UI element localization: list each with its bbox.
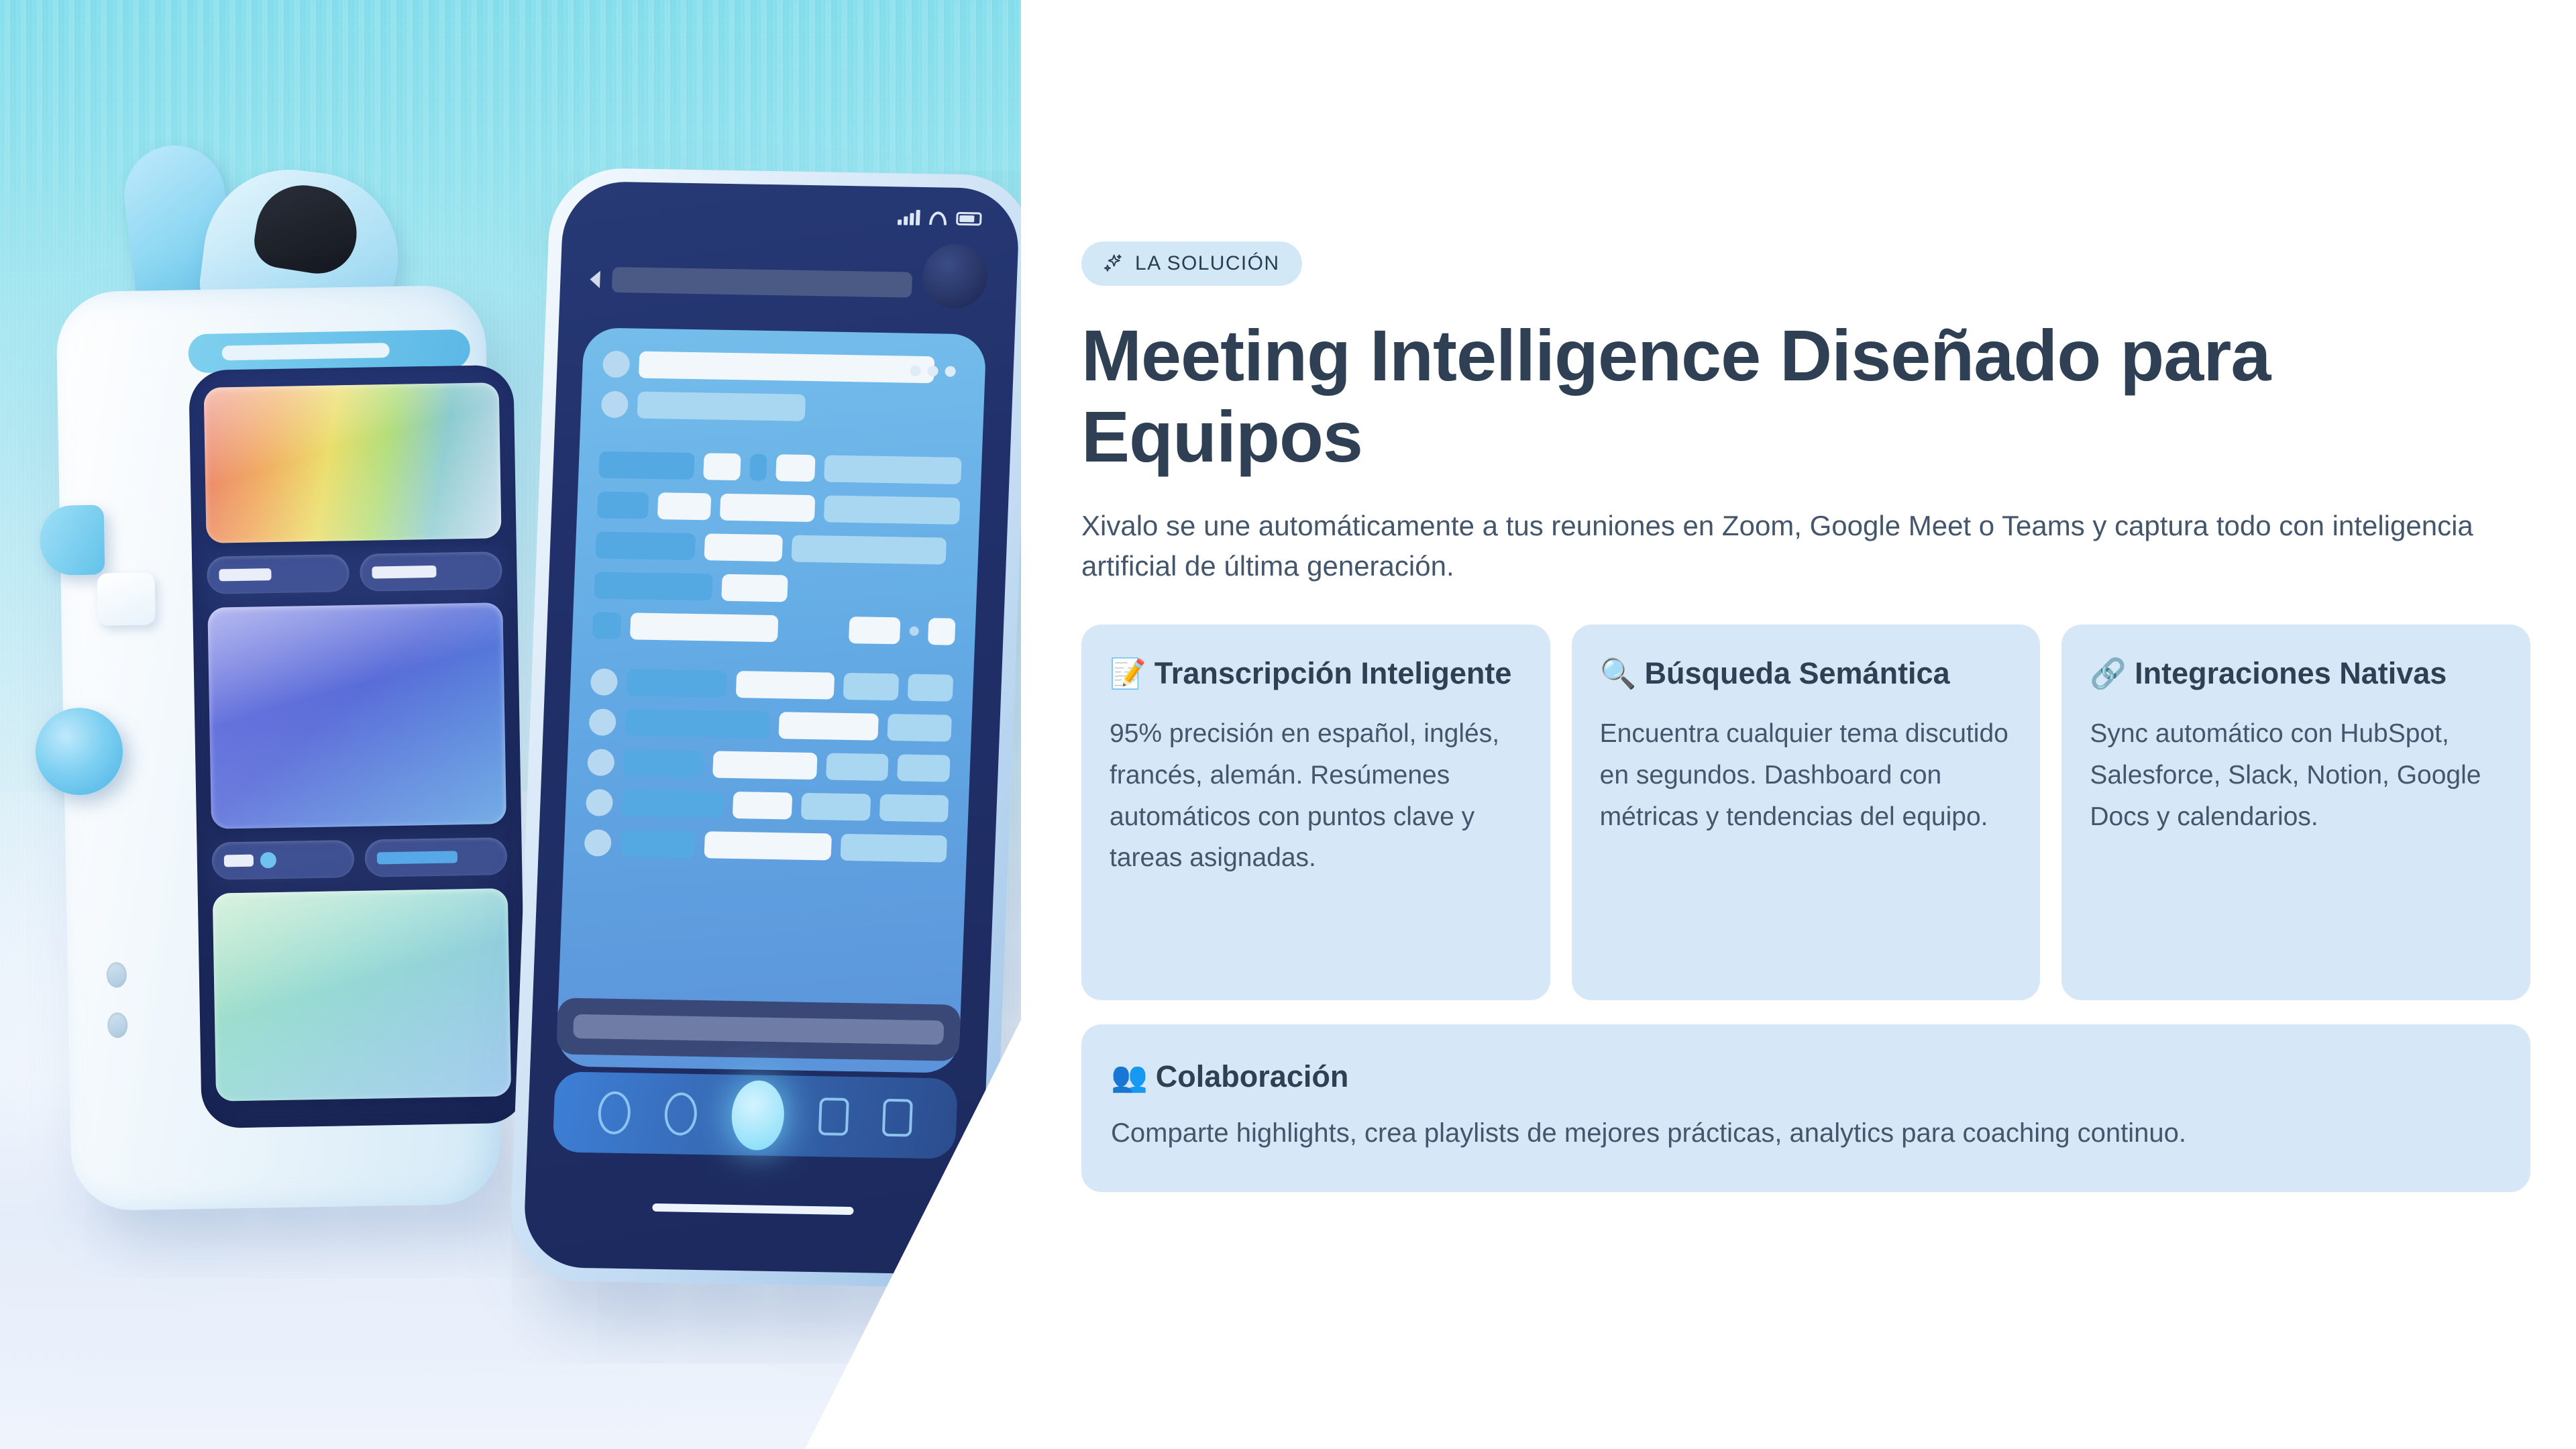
list-item [594, 572, 957, 604]
magnifying-glass-icon: 🔍 [1600, 657, 1637, 690]
gadget-side-tab [97, 572, 155, 625]
gadget-card-rainbow [204, 382, 502, 543]
phone-illustration [508, 167, 1034, 1288]
tab-icon-4 [818, 1097, 849, 1136]
feature-card-integraciones[interactable]: 🔗Integraciones Nativas Sync automático c… [2061, 625, 2530, 1000]
feature-card-body: 95% precisión en español, inglés, francé… [1110, 713, 1522, 878]
gadget-pill-row-2 [211, 837, 507, 880]
back-chevron-icon [590, 270, 600, 288]
gadget-screen [189, 365, 527, 1128]
signal-icon [898, 209, 920, 225]
phone-screen [523, 181, 1020, 1275]
section-eyebrow-badge: LA SOLUCIÓN [1081, 241, 1302, 286]
gadget-illustration [56, 285, 501, 1212]
section-subtitle: Xivalo se une automáticamente a tus reun… [1081, 506, 2497, 586]
list-item [596, 531, 959, 564]
feature-card-heading: 👥Colaboración [1111, 1059, 2501, 1094]
gadget-pill [360, 551, 502, 592]
feature-card-colaboracion[interactable]: 👥Colaboración Comparte highlights, crea … [1081, 1024, 2530, 1192]
list-item [598, 451, 962, 484]
hero-illustration [0, 0, 1046, 1449]
phone-input-bar [556, 998, 961, 1061]
tab-icon-2 [664, 1092, 698, 1136]
overflow-menu-icon [910, 366, 956, 377]
feature-card-title: Búsqueda Semántica [1644, 656, 1949, 690]
list-item [584, 829, 947, 862]
gadget-pill [364, 837, 507, 877]
feature-card-heading: 🔗Integraciones Nativas [2090, 654, 2502, 693]
phone-nav-title-placeholder [612, 267, 912, 298]
tab-icon-1 [597, 1091, 631, 1134]
list-item [588, 708, 952, 741]
list-item [590, 668, 954, 701]
feature-card-heading: 🔍Búsqueda Semántica [1600, 654, 2012, 693]
tab-icon-5 [882, 1099, 913, 1137]
phone-content-panel [555, 327, 986, 1073]
gadget-pill [207, 554, 350, 594]
sparkles-icon [1102, 252, 1124, 275]
solution-section: LA SOLUCIÓN Meeting Intelligence Diseñad… [1081, 0, 2576, 1449]
gadget-pill [211, 840, 354, 880]
gadget-card-green [213, 888, 511, 1102]
gadget-card-blue [207, 602, 506, 829]
feature-card-body: Sync automático con HubSpot, Salesforce,… [2090, 713, 2502, 837]
feature-card-heading: 📝Transcripción Inteligente [1110, 654, 1522, 693]
feature-card-title: Integraciones Nativas [2135, 656, 2447, 690]
list-item [597, 492, 961, 525]
battery-icon [956, 211, 982, 225]
feature-card-busqueda[interactable]: 🔍Búsqueda Semántica Encuentra cualquier … [1572, 625, 2041, 1000]
phone-tab-bar [552, 1071, 958, 1159]
phone-frame [508, 167, 1034, 1288]
page-title: Meeting Intelligence Diseñado para Equip… [1081, 315, 2356, 478]
feature-card-title: Colaboración [1156, 1059, 1349, 1093]
phone-status-bar [898, 209, 982, 226]
feature-card-grid: 📝Transcripción Inteligente 95% precisión… [1081, 625, 2530, 1000]
gadget-pill-row-1 [207, 551, 502, 594]
feature-card-body: Encuentra cualquier tema discutido en se… [1600, 713, 2012, 837]
list-item [592, 612, 956, 645]
feature-card-transcripcion[interactable]: 📝Transcripción Inteligente 95% precisión… [1081, 625, 1550, 1000]
link-icon: 🔗 [2090, 657, 2127, 690]
phone-home-indicator [652, 1203, 853, 1215]
phone-camera-notch [922, 244, 989, 309]
busts-silhouette-icon: 👥 [1111, 1061, 1148, 1093]
phone-nav-bar [589, 262, 912, 302]
tab-icon-active [731, 1080, 786, 1150]
list-item [586, 789, 949, 822]
memo-icon: 📝 [1110, 657, 1146, 690]
feature-card-body: Comparte highlights, crea playlists de m… [1111, 1113, 2501, 1153]
list-item [587, 749, 951, 782]
feature-card-title: Transcripción Inteligente [1155, 656, 1512, 690]
gadget-side-knob-top [40, 504, 105, 576]
section-eyebrow-label: LA SOLUCIÓN [1135, 252, 1279, 275]
list-item [601, 391, 965, 424]
wifi-icon [929, 211, 947, 225]
